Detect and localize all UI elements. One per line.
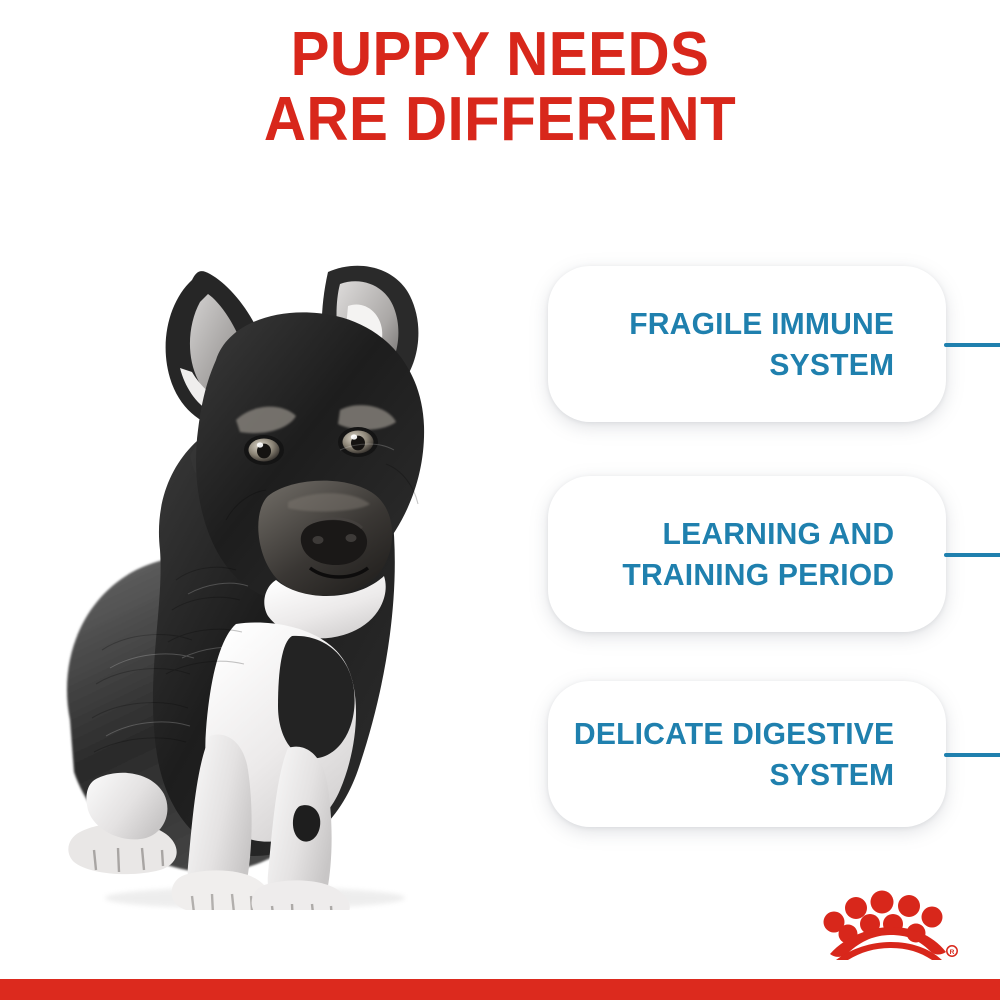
bottom-accent-bar bbox=[0, 979, 1000, 1000]
puppy-photo bbox=[40, 250, 510, 910]
svg-text:R: R bbox=[950, 949, 955, 956]
connector-line-3 bbox=[944, 753, 1000, 757]
callout-label: LEARNING AND TRAINING PERIOD bbox=[622, 513, 894, 595]
connector-line-1 bbox=[944, 343, 1000, 347]
callout-learning-and-training-period[interactable]: LEARNING AND TRAINING PERIOD bbox=[548, 476, 946, 632]
royal-canin-crown-logo: R bbox=[822, 886, 974, 960]
page-title: PUPPY NEEDS ARE DIFFERENT bbox=[30, 22, 970, 152]
poster-root: PUPPY NEEDS ARE DIFFERENT bbox=[0, 0, 1000, 1000]
page-title-line-1: PUPPY NEEDS bbox=[30, 22, 970, 87]
callout-delicate-digestive-system[interactable]: DELICATE DIGESTIVE SYSTEM bbox=[548, 681, 946, 827]
connector-line-2 bbox=[944, 553, 1000, 557]
callout-fragile-immune-system[interactable]: FRAGILE IMMUNE SYSTEM bbox=[548, 266, 946, 422]
page-title-line-2: ARE DIFFERENT bbox=[30, 87, 970, 152]
callout-label: FRAGILE IMMUNE SYSTEM bbox=[629, 303, 894, 385]
callout-label: DELICATE DIGESTIVE SYSTEM bbox=[574, 713, 894, 795]
